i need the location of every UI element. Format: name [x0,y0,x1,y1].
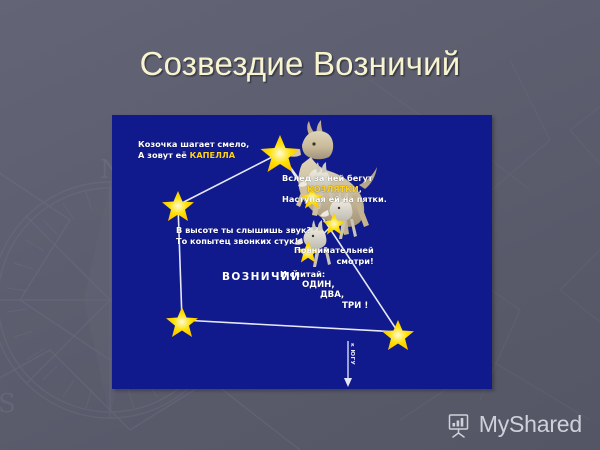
direction-label: к ЮГУ [349,343,355,365]
caption-kids-line1: Вслед за ней бегут [282,173,387,184]
star-capella [261,135,300,172]
constellation-picture: Козочка шагает смело, А зовут её КАПЕЛЛА… [112,115,492,389]
star-lower-left [166,307,198,337]
presentation-easel-icon [446,412,472,438]
myshared-logo[interactable]: MyShared [446,411,582,438]
caption-counting-line1: Повнимательней [280,245,374,256]
caption-counting-line2: смотри! [280,256,374,267]
caption-capella-prefix: А зовут её [138,150,190,160]
caption-capella-line2: А зовут её КАПЕЛЛА [138,150,249,161]
caption-hooves-line1: В высоте ты слышишь звук? [176,225,311,236]
constellation-name-label: ВОЗНИЧИЙ [222,271,301,283]
caption-kids-highlight: КОЗЛЯТКИ [307,184,359,194]
caption-kids-line3: Наступая ей на пятки. [282,194,387,205]
caption-kids-line2: КОЗЛЯТКИ, [282,184,387,195]
caption-capella-line1: Козочка шагает смело, [138,139,249,150]
caption-counting-num3: ТРИ ! [280,301,374,312]
caption-counting-num2: ДВА, [280,290,374,301]
caption-kids-comma: , [359,184,362,194]
caption-hooves: В высоте ты слышишь звук? То копытец зво… [176,225,311,246]
caption-capella-highlight: КАПЕЛЛА [190,150,235,160]
myshared-logo-text: MyShared [479,411,582,438]
caption-capella: Козочка шагает смело, А зовут её КАПЕЛЛА [138,139,249,160]
star-elnath [382,320,414,350]
slide-canvas: N S E Созвездие Возничий [0,0,600,450]
compass-letter-s: S [0,389,16,419]
slide-title: Созвездие Возничий [0,44,600,84]
caption-kids: Вслед за ней бегут КОЗЛЯТКИ, Наступая ей… [282,173,387,205]
